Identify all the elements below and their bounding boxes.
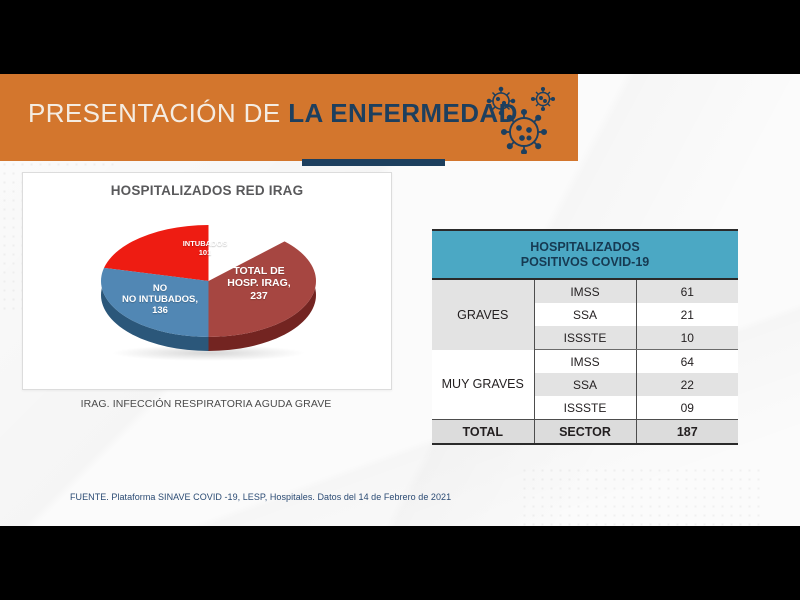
table-header-row: HOSPITALIZADOS POSITIVOS COVID-19: [432, 230, 738, 279]
total-label-cell: TOTAL: [432, 420, 534, 445]
total-value-cell: 187: [636, 420, 738, 445]
sector-cell: ISSSTE: [534, 396, 636, 420]
value-cell: 64: [636, 350, 738, 374]
source-note: FUENTE. Plataforma SINAVE COVID -19, LES…: [70, 492, 451, 502]
table-header-line-1: HOSPITALIZADOS: [432, 240, 738, 255]
pie-chart-card: HOSPITALIZADOS RED IRAG INTUBADOS 101 NO…: [22, 172, 392, 390]
sector-cell: IMSS: [534, 350, 636, 374]
value-cell: 22: [636, 373, 738, 396]
virus-icon-small-left: [488, 88, 515, 115]
value-cell: 09: [636, 396, 738, 420]
dot-pattern-decoration-right: [520, 466, 760, 526]
table-row: GRAVES IMSS 61: [432, 279, 738, 303]
pie-label-no-intubados: NO NO INTUBADOS, 136: [115, 283, 205, 317]
covid-hospitalization-table: HOSPITALIZADOS POSITIVOS COVID-19 GRAVES…: [432, 229, 738, 445]
virus-icon-small-right: [532, 88, 555, 111]
total-sector-cell: SECTOR: [534, 420, 636, 445]
sector-cell: ISSSTE: [534, 326, 636, 350]
pie-label-total-hosp-irag: TOTAL DE HOSP. IRAG, 237: [213, 265, 305, 302]
pie-chart: INTUBADOS 101 NO NO INTUBADOS, 136 TOTAL…: [101, 221, 316, 371]
table-header-line-2: POSITIVOS COVID-19: [432, 255, 738, 270]
header-band: PRESENTACIÓN DE LA ENFERMEDAD: [0, 74, 578, 161]
chart-caption: IRAG. INFECCIÓN RESPIRATORIA AGUDA GRAVE: [22, 398, 390, 410]
page-title: PRESENTACIÓN DE LA ENFERMEDAD: [28, 98, 518, 129]
value-cell: 61: [636, 279, 738, 303]
sector-cell: IMSS: [534, 279, 636, 303]
category-cell-graves: GRAVES: [432, 279, 534, 350]
value-cell: 10: [636, 326, 738, 350]
value-cell: 21: [636, 303, 738, 326]
virus-icon-group: [482, 86, 566, 154]
pie-label-intubados: INTUBADOS 101: [161, 240, 249, 258]
table-total-row: TOTAL SECTOR 187: [432, 420, 738, 445]
presentation-stage: PRESENTACIÓN DE LA ENFERMEDAD: [0, 0, 800, 600]
title-accent-bar: [302, 159, 445, 166]
virus-icon-large: [502, 110, 546, 154]
category-cell-muy-graves: MUY GRAVES: [432, 350, 534, 420]
table-header-cell: HOSPITALIZADOS POSITIVOS COVID-19: [432, 230, 738, 279]
page-title-light: PRESENTACIÓN DE: [28, 98, 281, 128]
chart-title: HOSPITALIZADOS RED IRAG: [23, 183, 391, 198]
sector-cell: SSA: [534, 373, 636, 396]
slide-canvas: PRESENTACIÓN DE LA ENFERMEDAD: [0, 74, 800, 526]
table-row: MUY GRAVES IMSS 64: [432, 350, 738, 374]
sector-cell: SSA: [534, 303, 636, 326]
